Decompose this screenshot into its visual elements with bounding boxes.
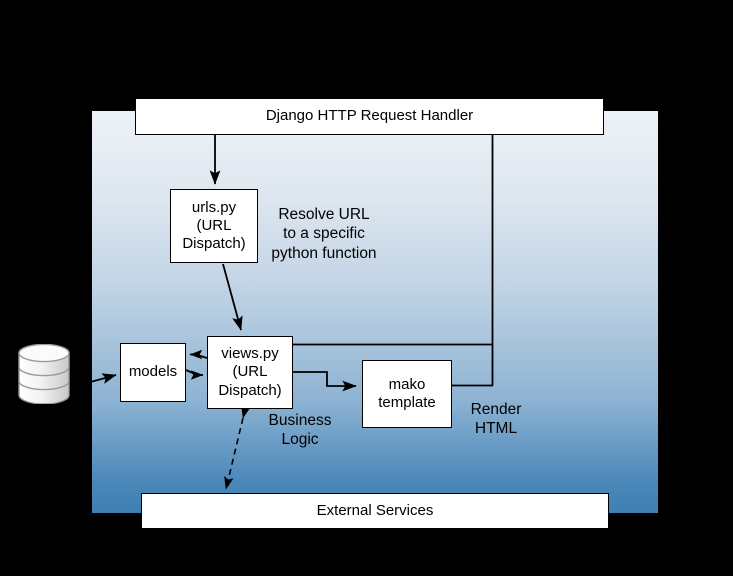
node-label-line3: Dispatch)	[218, 382, 281, 400]
annotation-render-html: Render HTML	[458, 400, 534, 439]
node-urls-py[interactable]: urls.py (URL Dispatch)	[170, 189, 258, 263]
node-models[interactable]: models	[120, 343, 186, 402]
annotation-business-logic: Business Logic	[257, 411, 343, 450]
annotation-resolve-url: Resolve URL to a specific python functio…	[263, 205, 385, 263]
node-mako-template[interactable]: mako template	[362, 360, 452, 428]
node-label: External Services	[317, 502, 434, 520]
node-external-services[interactable]: External Services	[141, 493, 609, 529]
node-label-line1: urls.py	[192, 199, 236, 217]
node-label-line2: (URL	[196, 217, 231, 235]
database-cylinder-icon	[18, 344, 70, 404]
node-django-http-request-handler[interactable]: Django HTTP Request Handler	[135, 98, 604, 135]
gradient-backdrop-panel	[92, 111, 658, 513]
diagram-canvas: Django HTTP Request Handler urls.py (URL…	[0, 0, 733, 576]
node-label: Django HTTP Request Handler	[266, 107, 473, 125]
node-label-line2: template	[378, 394, 436, 412]
node-label: models	[129, 363, 177, 381]
node-label-line1: mako	[389, 376, 426, 394]
node-views-py[interactable]: views.py (URL Dispatch)	[207, 336, 293, 409]
node-label-line1: views.py	[221, 345, 279, 363]
node-label-line2: (URL	[232, 363, 267, 381]
node-label-line3: Dispatch)	[182, 235, 245, 253]
